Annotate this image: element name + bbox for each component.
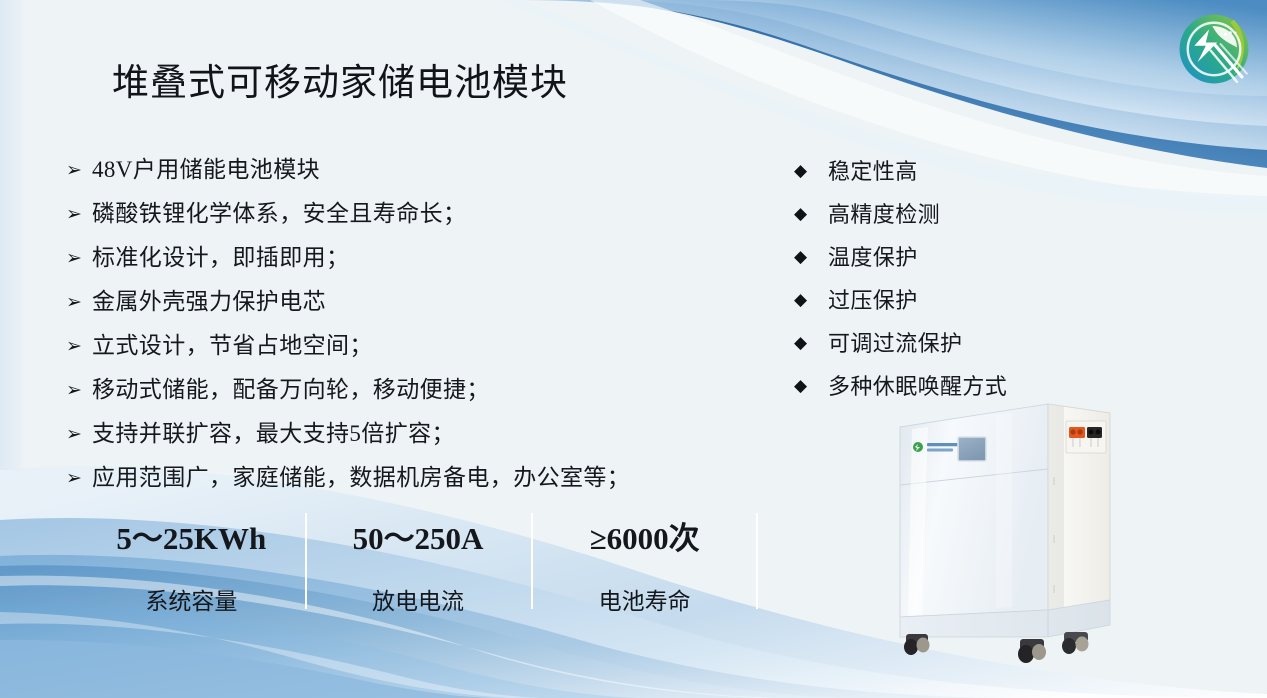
- list-item: ➢ 标准化设计，即插即用；: [66, 236, 726, 280]
- spec-column-lifetime: ≥6000次 电池寿命: [531, 505, 758, 615]
- diamond-bullet-icon: ◆: [794, 322, 828, 365]
- feature-list-left: ➢ 48V户用储能电池模块 ➢ 磷酸铁锂化学体系，安全且寿命长； ➢ 标准化设计…: [66, 148, 726, 500]
- product-image: [878, 385, 1128, 685]
- list-item-label: 金属外壳强力保护电芯: [92, 280, 326, 324]
- spec-column-current: 50～250A 放电电流: [305, 505, 532, 615]
- list-item-label: 过压保护: [828, 279, 918, 322]
- leaf-circle-icon: [1173, 8, 1255, 90]
- spec-value: 50～250A: [305, 513, 532, 558]
- spec-label: 电池寿命: [531, 582, 758, 616]
- arrow-bullet-icon: ➢: [66, 192, 92, 236]
- arrow-bullet-icon: ➢: [66, 368, 92, 412]
- list-item: ◆ 稳定性高: [794, 150, 1074, 193]
- list-item: ➢ 48V户用储能电池模块: [66, 148, 726, 192]
- list-item: ➢ 磷酸铁锂化学体系，安全且寿命长；: [66, 192, 726, 236]
- list-item-label: 应用范围广，家庭储能，数据机房备电，办公室等；: [92, 456, 630, 500]
- list-item-label: 磷酸铁锂化学体系，安全且寿命长；: [92, 192, 466, 236]
- company-logo: [1173, 8, 1255, 90]
- diamond-bullet-icon: ◆: [794, 150, 828, 193]
- list-item: ◆ 可调过流保护: [794, 322, 1074, 365]
- list-item: ➢ 应用范围广，家庭储能，数据机房备电，办公室等；: [66, 456, 726, 500]
- arrow-bullet-icon: ➢: [66, 456, 92, 500]
- list-item: ➢ 金属外壳强力保护电芯: [66, 280, 726, 324]
- list-item-label: 移动式储能，配备万向轮，移动便捷；: [92, 368, 490, 412]
- list-item: ◆ 温度保护: [794, 236, 1074, 279]
- list-item-label: 标准化设计，即插即用；: [92, 236, 349, 280]
- list-item-label: 稳定性高: [828, 150, 918, 193]
- list-item-label: 立式设计，节省占地空间；: [92, 324, 373, 368]
- spec-column-capacity: 5～25KWh 系统容量: [78, 505, 305, 615]
- list-item-label: 48V户用储能电池模块: [92, 148, 320, 192]
- spec-label: 放电电流: [305, 582, 532, 616]
- page-title: 堆叠式可移动家储电池模块: [112, 52, 568, 106]
- spec-value: 5～25KWh: [78, 513, 305, 558]
- list-item: ➢ 支持并联扩容，最大支持5倍扩容；: [66, 412, 726, 456]
- diamond-bullet-icon: ◆: [794, 193, 828, 236]
- list-item: ◆ 过压保护: [794, 279, 1074, 322]
- product-terminal-panel: [1066, 421, 1106, 453]
- diamond-bullet-icon: ◆: [794, 236, 828, 279]
- diamond-bullet-icon: ◆: [794, 365, 828, 408]
- list-item-label: 温度保护: [828, 236, 918, 279]
- slide-canvas: 堆叠式可移动家储电池模块: [0, 0, 1267, 698]
- spec-value: ≥6000次: [531, 513, 758, 558]
- list-item: ◆ 高精度检测: [794, 193, 1074, 236]
- feature-list-right: ◆ 稳定性高 ◆ 高精度检测 ◆ 温度保护 ◆ 过压保护 ◆ 可调过流保护 ◆ …: [794, 150, 1074, 408]
- list-item: ➢ 立式设计，节省占地空间；: [66, 324, 726, 368]
- product-display-screen: [958, 437, 986, 461]
- list-item-label: 支持并联扩容，最大支持5倍扩容；: [92, 412, 455, 456]
- list-item: ➢ 移动式储能，配备万向轮，移动便捷；: [66, 368, 726, 412]
- arrow-bullet-icon: ➢: [66, 236, 92, 280]
- list-item-label: 可调过流保护: [828, 322, 962, 365]
- arrow-bullet-icon: ➢: [66, 148, 92, 192]
- arrow-bullet-icon: ➢: [66, 324, 92, 368]
- battery-cabinet-illustration: [878, 385, 1128, 685]
- arrow-bullet-icon: ➢: [66, 412, 92, 456]
- spec-highlight-row: 5～25KWh 系统容量 50～250A 放电电流 ≥6000次 电池寿命: [78, 505, 758, 615]
- diamond-bullet-icon: ◆: [794, 279, 828, 322]
- spec-label: 系统容量: [78, 582, 305, 616]
- list-item-label: 高精度检测: [828, 193, 940, 236]
- arrow-bullet-icon: ➢: [66, 280, 92, 324]
